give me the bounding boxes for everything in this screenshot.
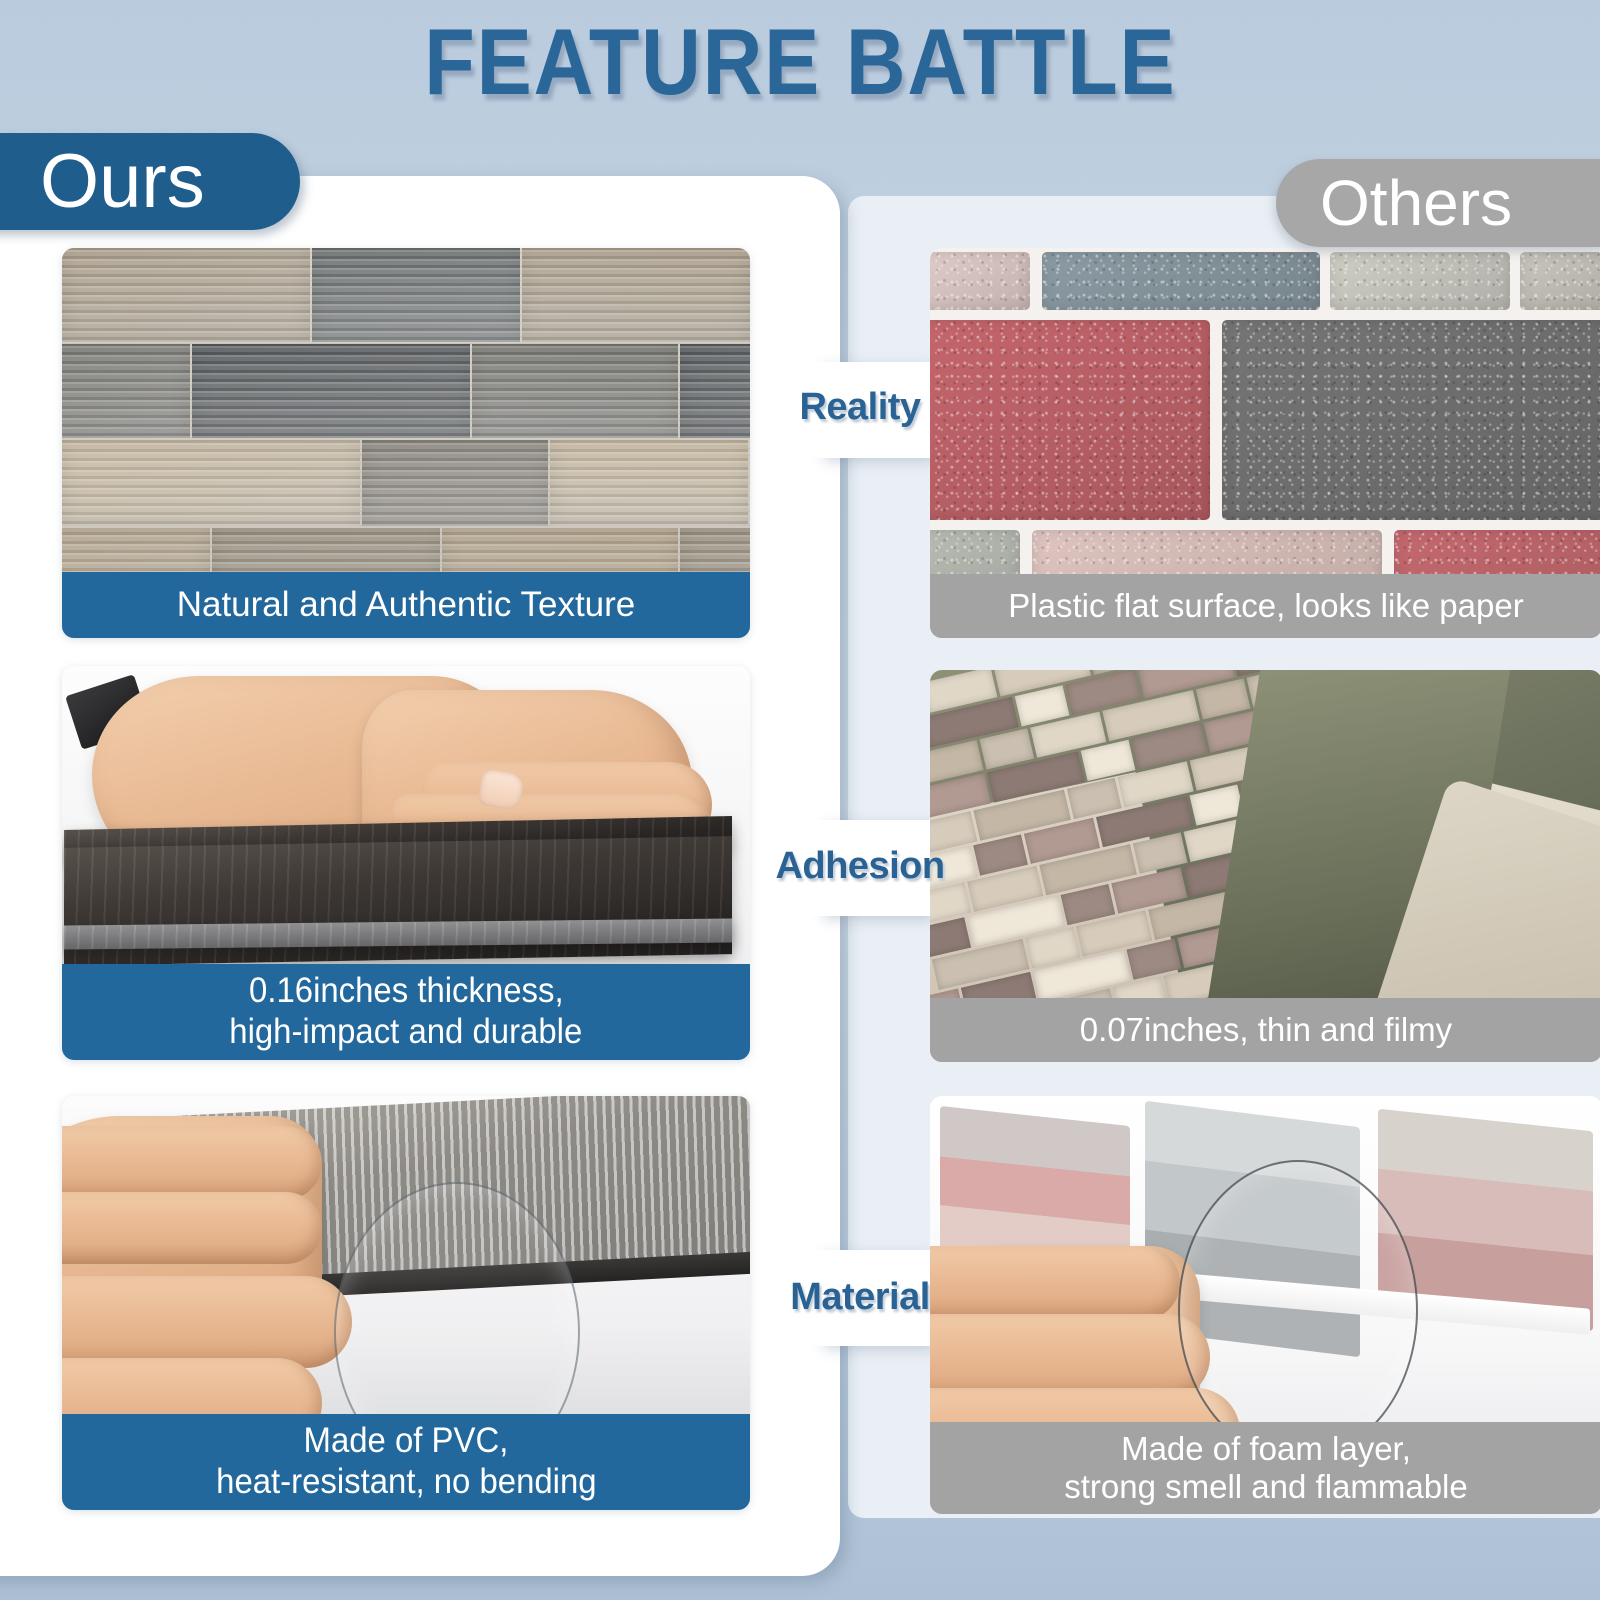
caption-line: strong smell and flammable	[1064, 1468, 1468, 1506]
caption-line: Made of foam layer,	[1121, 1430, 1411, 1468]
row-label-reality: Reality	[770, 386, 950, 429]
caption-line: heat-resistant, no bending	[216, 1462, 596, 1503]
ours-badge: Ours	[0, 133, 300, 230]
page-title-wrap: FEATURE BATTLE	[0, 8, 1600, 116]
caption-line: 0.07inches, thin and filmy	[1080, 1011, 1452, 1049]
others-badge-label: Others	[1320, 166, 1512, 240]
row-label-adhesion: Adhesion	[770, 845, 950, 888]
others-badge: Others	[1276, 159, 1600, 247]
ours-caption-adhesion: 0.16inches thickness, high-impact and du…	[62, 964, 750, 1060]
row-label-material: Material	[770, 1276, 950, 1319]
others-caption-material: Made of foam layer, strong smell and fla…	[930, 1422, 1600, 1514]
caption-line: Made of PVC,	[304, 1421, 509, 1462]
caption-line: high-impact and durable	[229, 1012, 582, 1053]
others-card-material: Made of foam layer, strong smell and fla…	[930, 1096, 1600, 1514]
page-title: FEATURE BATTLE	[424, 8, 1176, 116]
ours-badge-label: Ours	[40, 138, 205, 225]
others-caption-adhesion: 0.07inches, thin and filmy	[930, 998, 1600, 1062]
caption-line: 0.16inches thickness,	[249, 971, 564, 1012]
others-card-adhesion: 0.07inches, thin and filmy	[930, 670, 1600, 1062]
caption-line: Natural and Authentic Texture	[177, 585, 636, 626]
ours-caption-reality: Natural and Authentic Texture	[62, 572, 750, 638]
ours-card-material: Made of PVC, heat-resistant, no bending	[62, 1096, 750, 1510]
magnifier-icon	[1178, 1160, 1418, 1460]
ours-card-reality: Natural and Authentic Texture	[62, 248, 750, 638]
others-card-reality: Plastic flat surface, looks like paper	[930, 248, 1600, 638]
caption-line: Plastic flat surface, looks like paper	[1008, 587, 1523, 625]
ours-caption-material: Made of PVC, heat-resistant, no bending	[62, 1414, 750, 1510]
ours-card-adhesion: 0.16inches thickness, high-impact and du…	[62, 666, 750, 1060]
others-caption-reality: Plastic flat surface, looks like paper	[930, 574, 1600, 638]
